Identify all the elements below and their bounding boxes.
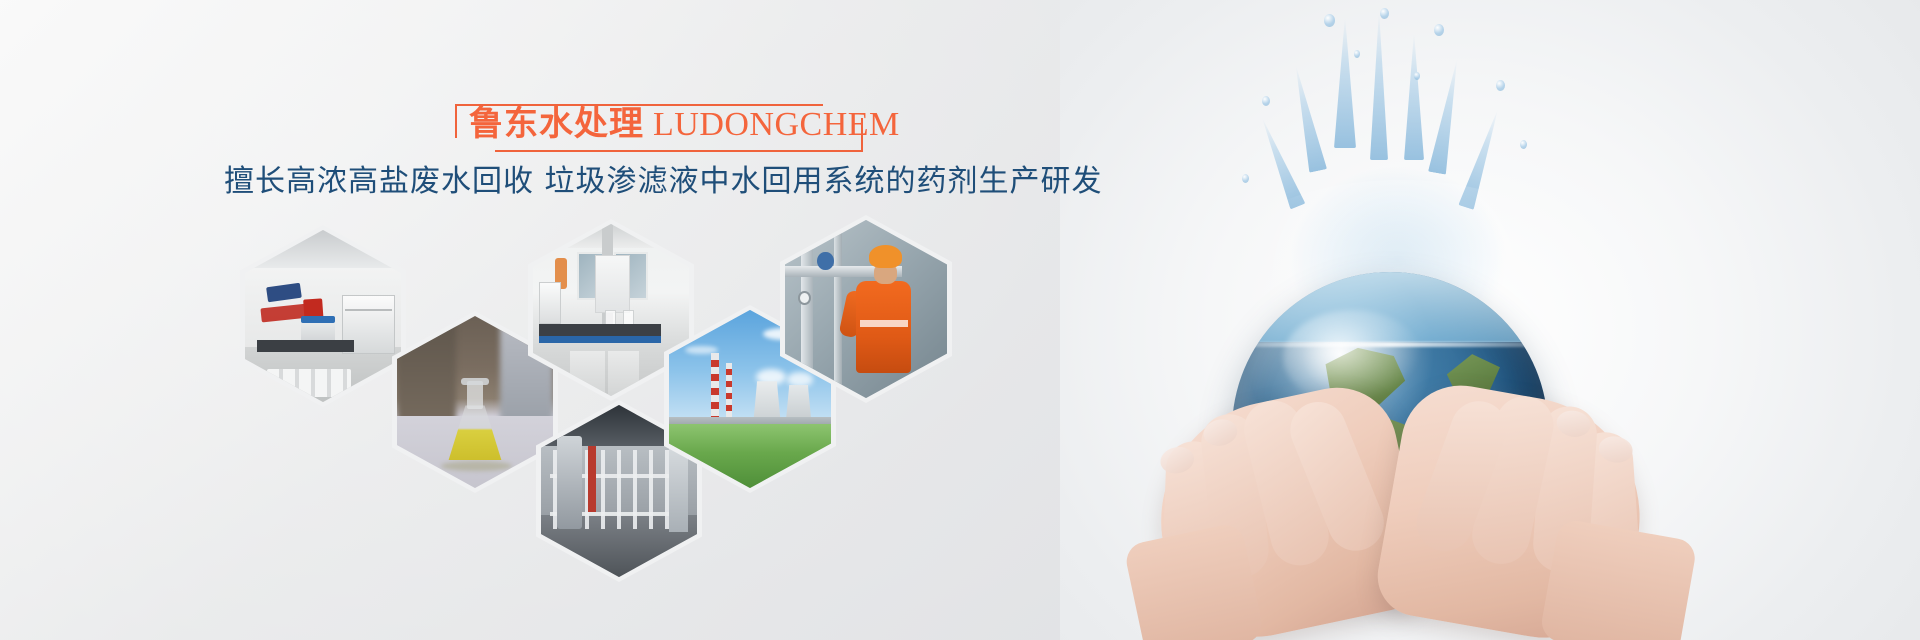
water-splash-crown [1228, 10, 1568, 310]
bracket-bottom-line [495, 150, 863, 152]
water-droplet-5 [1496, 80, 1505, 91]
flask-lip [461, 378, 489, 385]
lab-bench [257, 340, 354, 352]
water-droplet-3 [1434, 24, 1444, 36]
brand-title: 鲁东水处理 LUDONGCHEM [469, 102, 900, 148]
brand-title-en: LUDONGCHEM [653, 106, 900, 143]
lab3-bench [539, 324, 661, 336]
bracket-left-tick [455, 104, 457, 138]
water-droplet-1 [1324, 14, 1335, 27]
lab3-fume-hood [595, 255, 629, 313]
hero-banner: 鲁东水处理 LUDONGCHEM 擅长高浓高盐废水回收 垃圾渗滤液中水回用系统的… [0, 0, 1920, 640]
brand-title-block: 鲁东水处理 LUDONGCHEM [455, 104, 825, 152]
lab3-bench-edge [539, 336, 661, 343]
water-droplet-2 [1380, 8, 1389, 19]
lab-machine-top [301, 316, 335, 323]
water-droplet-7 [1242, 174, 1249, 183]
flask-neck [467, 381, 483, 409]
lab-ceiling [245, 230, 401, 268]
flask-shadow [441, 461, 513, 471]
brand-title-cn: 鲁东水处理 [469, 106, 644, 143]
pipework-red-valve [588, 446, 596, 511]
right-wrist [1539, 518, 1698, 640]
right-hand [1371, 376, 1658, 640]
water-droplet-9 [1414, 72, 1420, 80]
hexagon-photo-cluster [240, 215, 960, 525]
engineer-reflective-stripe [860, 320, 909, 327]
lab3-cabinet [539, 282, 561, 323]
lab3-pedestal-a [570, 351, 604, 396]
plant-chimney-b [726, 363, 732, 420]
water-splash-globe-in-hands [1060, 0, 1920, 640]
engineer-pipe-b [834, 220, 842, 398]
pipework-tank [557, 436, 582, 529]
water-droplet-4 [1262, 96, 1270, 106]
engineer-valve-wheel [817, 252, 833, 270]
lab-cabinet-shelf [345, 309, 392, 311]
left-wrist [1123, 521, 1265, 640]
engineer-hard-hat [869, 245, 901, 268]
banner-subtitle: 擅长高浓高盐废水回收 垃圾渗滤液中水回用系统的药剂生产研发 [224, 162, 1103, 202]
water-droplet-6 [1520, 140, 1527, 149]
plant-steam-b [787, 372, 813, 386]
engineer-uniform [856, 281, 911, 374]
plant-chimney-a [711, 353, 719, 421]
water-droplet-8 [1354, 50, 1360, 58]
